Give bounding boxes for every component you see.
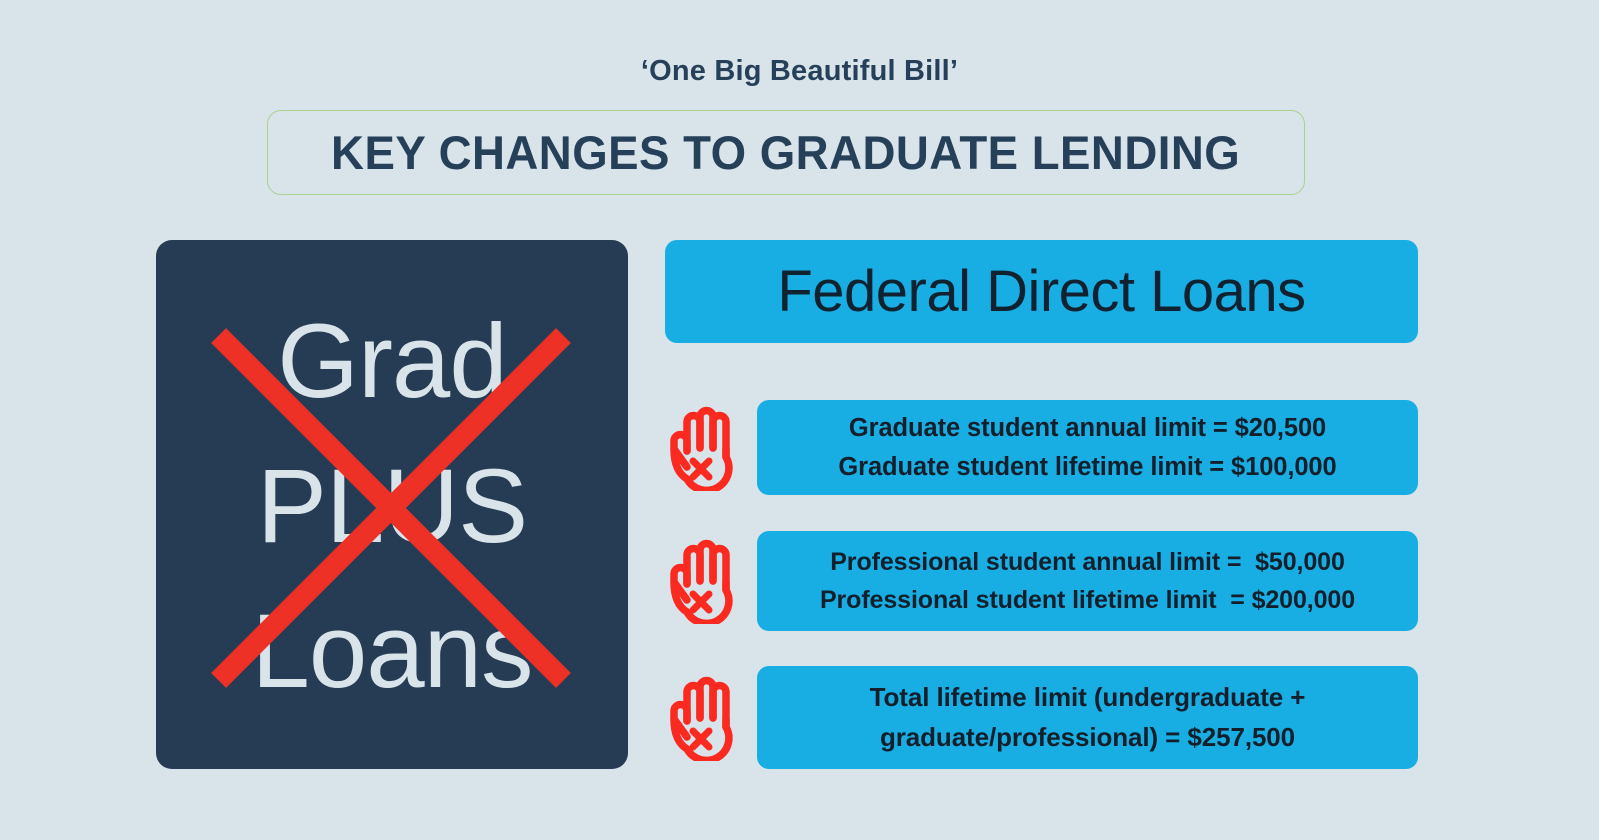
grad-plus-loans-label-line-3: Loans	[126, 580, 658, 725]
stop-hand-x-icon	[665, 538, 739, 624]
page-title: KEY CHANGES TO GRADUATE LENDING	[331, 125, 1240, 180]
fact-box: Professional student annual limit = $50,…	[757, 531, 1418, 631]
fact-line: Graduate student lifetime limit = $100,0…	[838, 448, 1336, 487]
title-box: KEY CHANGES TO GRADUATE LENDING	[267, 110, 1305, 195]
fact-row: Professional student annual limit = $50,…	[665, 531, 1418, 631]
fact-line: Professional student lifetime limit = $2…	[820, 581, 1355, 619]
fact-line: Total lifetime limit (undergraduate +	[870, 678, 1306, 718]
federal-direct-loans-banner: Federal Direct Loans	[665, 240, 1418, 343]
stop-hand-x-icon	[665, 405, 739, 491]
fact-box: Total lifetime limit (undergraduate + gr…	[757, 666, 1418, 769]
fact-box: Graduate student annual limit = $20,500 …	[757, 400, 1418, 495]
stop-hand-x-icon	[665, 675, 739, 761]
grad-plus-loans-label-line-1: Grad	[126, 290, 658, 435]
fact-line: graduate/professional) = $257,500	[880, 718, 1295, 758]
fact-row: Graduate student annual limit = $20,500 …	[665, 400, 1418, 495]
fact-row: Total lifetime limit (undergraduate + gr…	[665, 666, 1418, 769]
federal-direct-loans-label: Federal Direct Loans	[777, 258, 1305, 325]
page-subtitle: ‘One Big Beautiful Bill’	[0, 55, 1599, 88]
grad-plus-loans-label-line-2: PLUS	[126, 435, 658, 580]
grad-plus-loans-label: Grad PLUS Loans	[126, 290, 658, 725]
fact-line: Graduate student annual limit = $20,500	[849, 409, 1326, 448]
grad-plus-loans-panel: Grad PLUS Loans	[156, 240, 628, 769]
infographic-canvas: ‘One Big Beautiful Bill’ KEY CHANGES TO …	[0, 0, 1599, 840]
fact-line: Professional student annual limit = $50,…	[830, 543, 1345, 581]
